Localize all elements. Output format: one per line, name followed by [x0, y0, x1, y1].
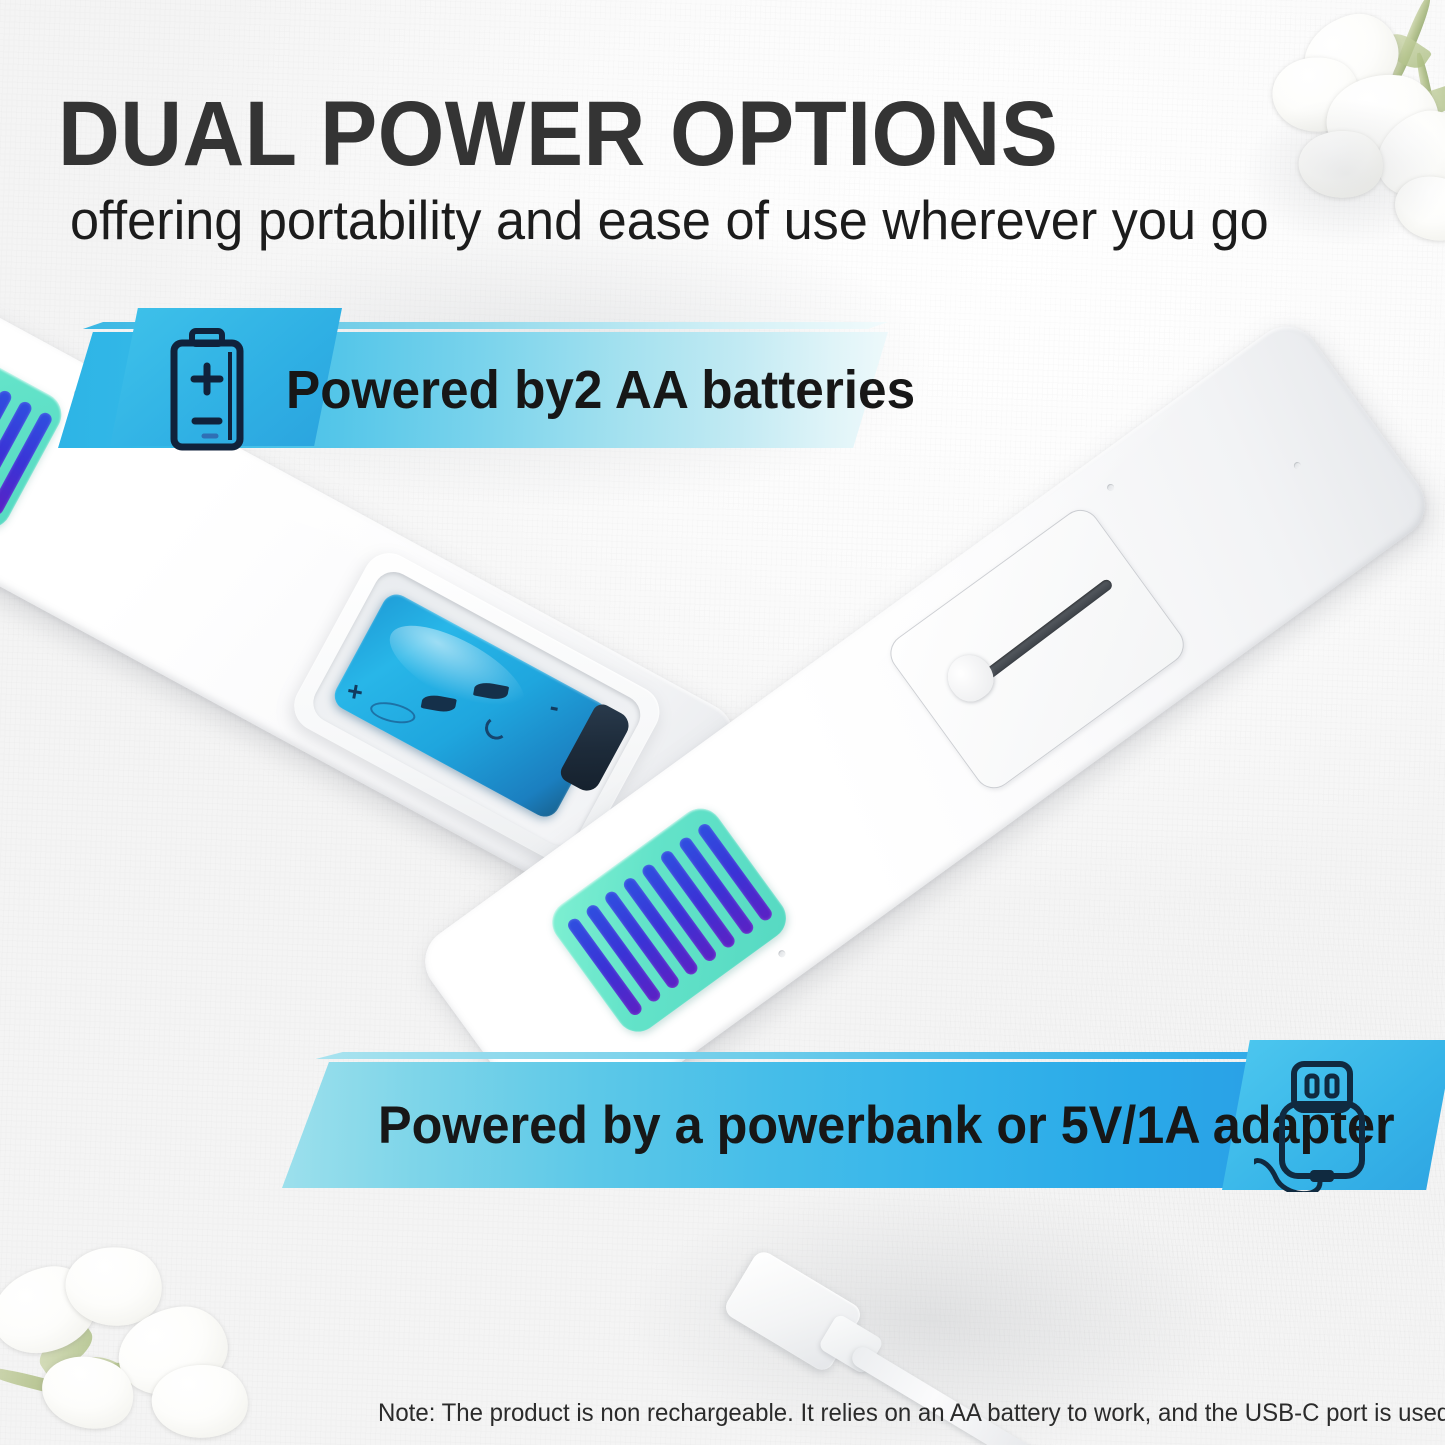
battery-icon: [164, 326, 256, 454]
feature-banner-battery: Powered by2 AA batteries: [58, 332, 888, 448]
usb-plug-icon: [1254, 1058, 1404, 1192]
feature-label-usb: Powered by a powerbank or 5V/1A adapter: [378, 1095, 1395, 1156]
power-switch-knob[interactable]: [939, 646, 1002, 709]
battery-label-oval: [368, 698, 417, 727]
usb-c-cord: [849, 1343, 1057, 1445]
footer-note: Note: The product is non rechargeable. I…: [378, 1398, 1445, 1428]
page-title: DUAL POWER OPTIONS: [58, 88, 1221, 180]
feature-banner-usb: Powered by a powerbank or 5V/1A adapter: [282, 1062, 1400, 1188]
page-subtitle: offering portability and ease of use whe…: [70, 193, 1296, 248]
banner-top-stripe: [316, 1052, 1400, 1059]
product-feature-graphic: + -: [0, 0, 1445, 1445]
battery-plus-mark: +: [344, 675, 365, 708]
battery-label-arc: [483, 715, 509, 741]
feature-label-battery: Powered by2 AA batteries: [286, 359, 915, 421]
battery-minus-mark: -: [547, 691, 561, 723]
